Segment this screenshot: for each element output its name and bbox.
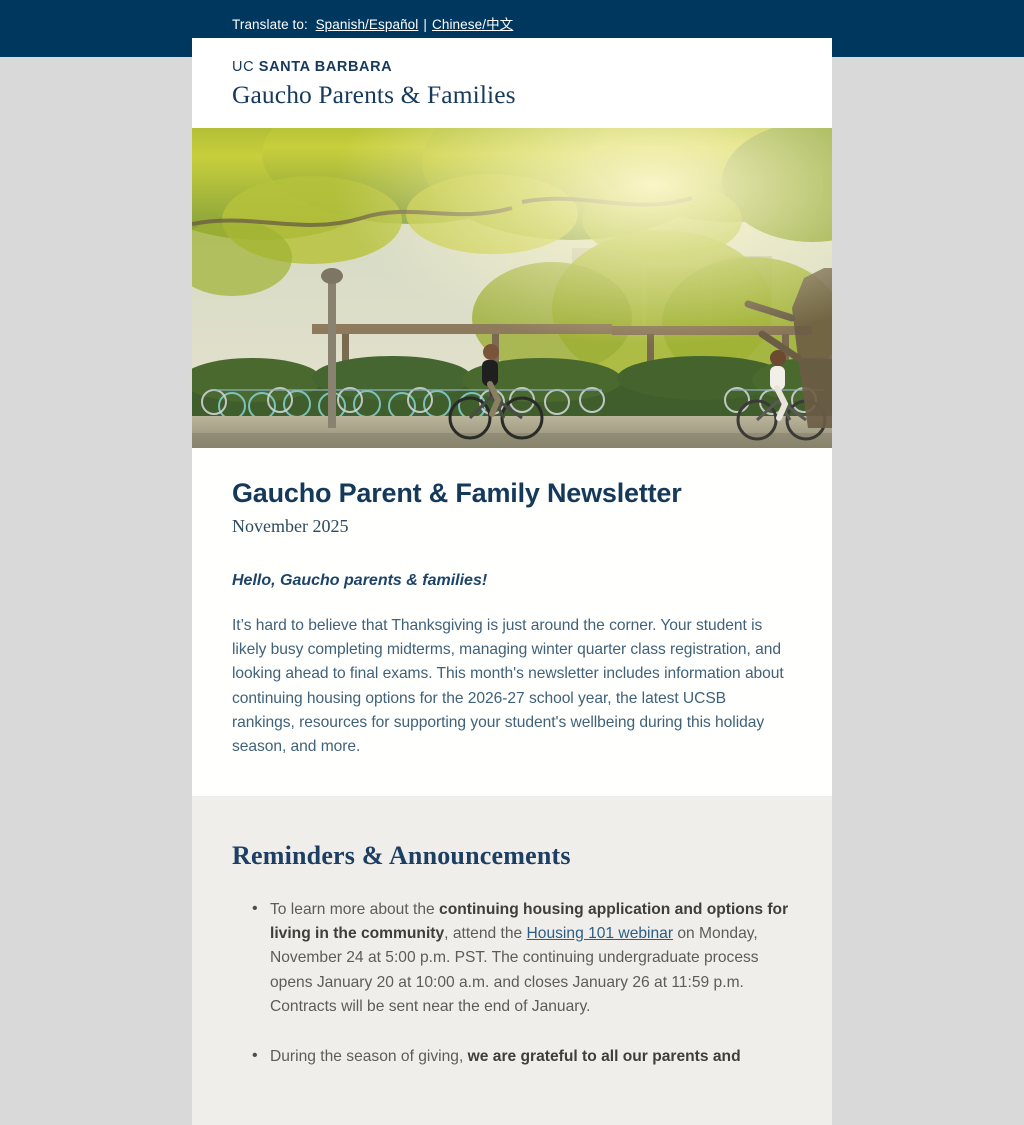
list-item: To learn more about the continuing housi…: [252, 898, 792, 1019]
newsletter-title: Gaucho Parent & Family Newsletter: [232, 478, 792, 509]
hero-image: [192, 128, 832, 448]
ucsb-wordmark-campus: SANTA BARBARA: [259, 59, 392, 75]
newsletter-date: November 2025: [232, 517, 792, 537]
translate-bar-content: Translate to: Spanish/Español|Chinese/中文: [232, 13, 513, 33]
newsletter-intro-paragraph: It’s hard to believe that Thanksgiving i…: [232, 614, 792, 760]
newsletter-greeting: Hello, Gaucho parents & families!: [232, 571, 792, 592]
translate-link-spanish[interactable]: Spanish/Español: [316, 17, 419, 32]
reminders-section: Reminders & Announcements To learn more …: [192, 796, 832, 1125]
newsletter-card: UC SANTA BARBARA Gaucho Parents & Famili…: [192, 38, 832, 1125]
masthead: UC SANTA BARBARA Gaucho Parents & Famili…: [192, 38, 832, 128]
translate-label: Translate to:: [232, 17, 308, 32]
translate-separator: |: [418, 17, 432, 32]
list-item: During the season of giving, we are grat…: [252, 1045, 792, 1069]
masthead-title: Gaucho Parents & Families: [232, 82, 792, 109]
reminder-lead-text: During the season of giving,: [270, 1048, 468, 1065]
reminders-list: To learn more about the continuing housi…: [232, 898, 792, 1069]
reminder-mid-text: , attend the: [444, 925, 526, 942]
translate-link-chinese[interactable]: Chinese/中文: [432, 17, 513, 32]
ucsb-wordmark: UC SANTA BARBARA: [232, 60, 792, 75]
ucsb-wordmark-uc: UC: [232, 59, 254, 75]
reminder-bold-text: we are grateful to all our parents and: [468, 1048, 741, 1065]
housing-101-webinar-link[interactable]: Housing 101 webinar: [527, 925, 674, 942]
campus-bikes-photo-icon: [192, 128, 832, 448]
reminder-lead-text: To learn more about the: [270, 901, 439, 918]
newsletter-body: Gaucho Parent & Family Newsletter Novemb…: [192, 448, 832, 796]
reminders-heading: Reminders & Announcements: [232, 842, 792, 871]
